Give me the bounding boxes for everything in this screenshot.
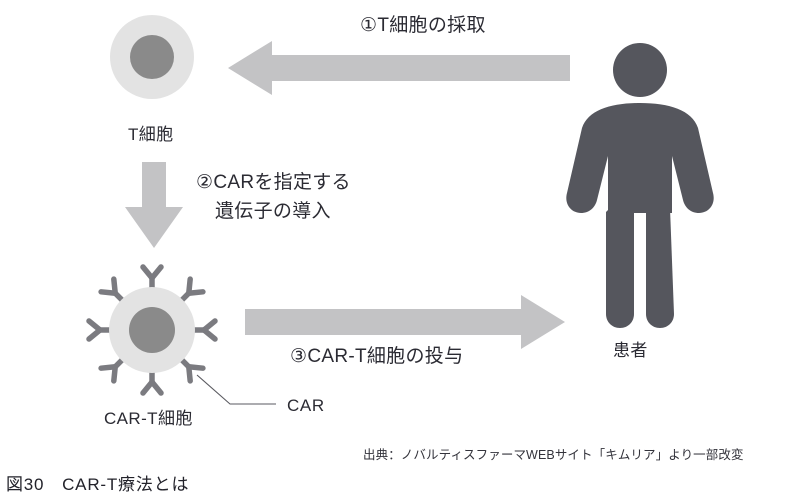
figure-car-t-therapy: T細胞 ①T細胞の採取 ②CARを指定する 遺伝子の導入 ③CAR-T細胞の投与…: [0, 0, 800, 502]
arrow-step1-leftward: [228, 41, 570, 95]
figure-caption: 図30 CAR-T療法とは: [6, 474, 189, 496]
arrow-step3-rightward: [245, 295, 565, 349]
patient-label: 患者: [613, 340, 648, 362]
car-leader-line: [197, 375, 276, 404]
step1-label: ①T細胞の採取: [360, 14, 486, 38]
arrow-step2-downward: [125, 162, 183, 248]
t-cell-label: T細胞: [128, 124, 174, 146]
step2-label-line1: ②CARを指定する: [196, 170, 351, 196]
step2-label-line2: 遺伝子の導入: [215, 199, 331, 225]
patient-icon: [566, 43, 713, 328]
t-cell-graphic: [110, 15, 194, 99]
car-t-cell-label: CAR-T細胞: [104, 408, 193, 430]
car-receptor-label: CAR: [287, 395, 325, 417]
step3-label: ③CAR-T細胞の投与: [290, 345, 463, 369]
car-t-cell-graphic: [89, 267, 215, 393]
source-note: 出典：ノバルティスファーマWEBサイト「キムリア」より一部改変: [363, 447, 744, 463]
